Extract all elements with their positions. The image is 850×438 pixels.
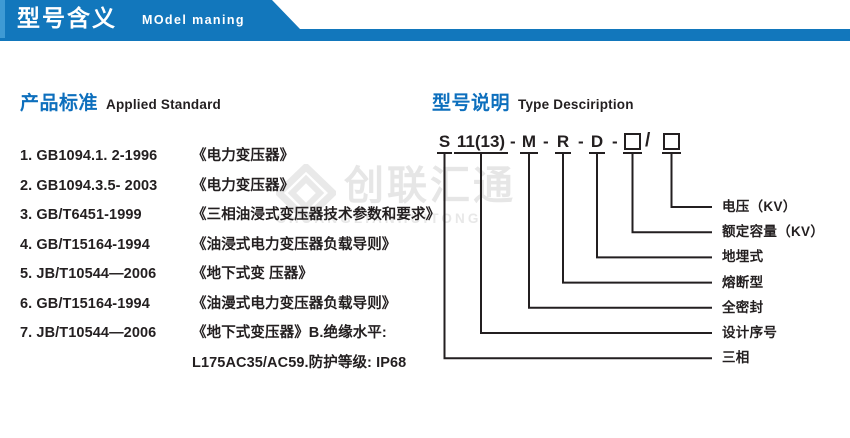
code-segment[interactable]: 11(13) (455, 131, 507, 153)
standard-continuation-row: L175AC35/AC59.防护等级: IP68 (20, 351, 440, 381)
standard-name: 《电力变压器》 (192, 174, 294, 195)
model-code-label: 额定容量（KV） (722, 223, 824, 241)
code-placeholder-box[interactable] (624, 133, 641, 150)
standard-row: 7. JB/T10544—2006《地下式变压器》B.绝缘水平: (20, 321, 440, 351)
code-segment-underline (589, 152, 605, 154)
leader-line (633, 154, 713, 232)
code-segment-underline (623, 152, 642, 154)
standard-row: 3. GB/T6451-1999《三相油浸式变压器技术参数和要求》 (20, 203, 440, 233)
model-code-label: 全密封 (722, 299, 763, 317)
standard-row: 6. GB/T15164-1994《油漫式电力变压器负载导则》 (20, 292, 440, 322)
standard-code: 4. GB/T15164-1994 (20, 237, 192, 253)
banner-left-edge (0, 0, 5, 38)
type-description-heading-chinese: 型号说明 (432, 93, 510, 114)
standard-row: 1. GB1094.1. 2-1996《电力变压器》 (20, 144, 440, 174)
page-header-banner: 型号含义 MOdel maning (0, 0, 850, 46)
leader-line (529, 154, 712, 308)
standard-name: 《电力变压器》 (192, 144, 294, 165)
banner-title-english: MOdel maning (142, 11, 245, 29)
code-segment-underline (454, 152, 508, 154)
standard-row: 2. GB1094.3.5- 2003《电力变压器》 (20, 174, 440, 204)
model-code-label: 地埋式 (722, 248, 763, 266)
code-dash: - (612, 131, 618, 153)
code-segment[interactable]: M (521, 131, 537, 153)
standard-name: 《三相油浸式变压器技术参数和要求》 (192, 203, 440, 224)
type-description-heading: 型号说明Type Desciription (432, 88, 634, 115)
standard-code: 1. GB1094.1. 2-1996 (20, 148, 192, 164)
applied-standard-heading-english: Applied Standard (106, 97, 221, 112)
banner-title-chinese: 型号含义 (17, 2, 117, 34)
model-code-label: 熔断型 (722, 274, 763, 292)
model-code-label: 电压（KV） (722, 198, 797, 216)
standard-name: 《油漫式电力变压器负载导则》 (192, 292, 396, 313)
type-description-heading-english: Type Desciription (518, 97, 634, 112)
code-segment-underline (520, 152, 538, 154)
leader-line (481, 154, 712, 333)
standard-code: 7. JB/T10544—2006 (20, 325, 192, 341)
standard-code: 5. JB/T10544—2006 (20, 266, 192, 282)
leader-line (445, 154, 713, 358)
standard-continuation-text: L175AC35/AC59.防护等级: IP68 (192, 351, 406, 381)
model-code-label: 三相 (722, 349, 750, 367)
applied-standard-heading: 产品标准Applied Standard (20, 88, 221, 115)
leader-line (672, 154, 713, 207)
leader-line (597, 154, 712, 257)
standard-row: 4. GB/T15164-1994《油浸式电力变压器负载导则》 (20, 233, 440, 263)
code-slash: / (645, 130, 650, 152)
standard-code: 6. GB/T15164-1994 (20, 296, 192, 312)
standards-list: 1. GB1094.1. 2-1996《电力变压器》2. GB1094.3.5-… (20, 144, 440, 380)
standard-code: 3. GB/T6451-1999 (20, 207, 192, 223)
code-segment[interactable]: D (590, 131, 604, 153)
leader-line (563, 154, 712, 283)
continuation-indent (20, 351, 192, 381)
code-dash: - (510, 131, 516, 153)
code-segment-underline (662, 152, 681, 154)
model-code-label: 设计序号 (722, 324, 777, 342)
code-segment[interactable]: S (438, 131, 451, 153)
code-segment-underline (437, 152, 452, 154)
code-segment[interactable]: R (556, 131, 570, 153)
standard-name: 《地下式变压器》B.绝缘水平: (192, 321, 387, 342)
code-segment-underline (555, 152, 571, 154)
code-dash: - (578, 131, 584, 153)
code-placeholder-box[interactable] (663, 133, 680, 150)
applied-standard-heading-chinese: 产品标准 (20, 93, 98, 114)
standard-name: 《油浸式电力变压器负载导则》 (192, 233, 396, 254)
standard-code: 2. GB1094.3.5- 2003 (20, 178, 192, 194)
banner-rule (0, 38, 850, 41)
code-dash: - (543, 131, 549, 153)
standard-name: 《地下式变 压器》 (192, 262, 313, 283)
standard-row: 5. JB/T10544—2006《地下式变 压器》 (20, 262, 440, 292)
